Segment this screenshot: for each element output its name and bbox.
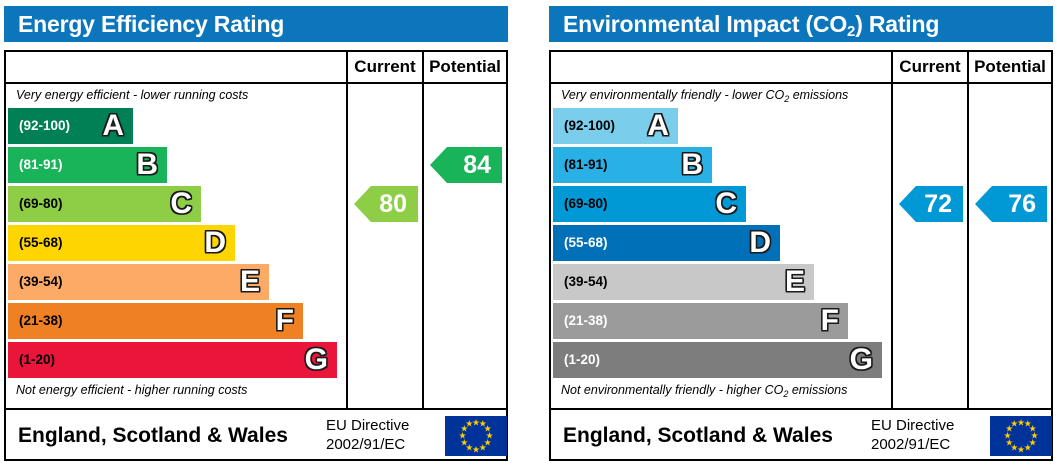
co2-band-range-a: (92-100): [564, 108, 615, 144]
energy-band-range-f: (21-38): [19, 303, 63, 339]
co2-band-range-e: (39-54): [564, 264, 608, 300]
energy-band-range-g: (1-20): [19, 342, 55, 378]
co2-top-note-suffix: emissions: [789, 88, 848, 102]
energy-footer-directive: EU Directive 2002/91/EC: [326, 416, 409, 454]
co2-band-range-d: (55-68): [564, 225, 608, 261]
energy-chart-footer: England, Scotland & Wales EU Directive 2…: [4, 412, 508, 461]
co2-band-range-c: (69-80): [564, 186, 608, 222]
co2-current-column-divider: [891, 52, 893, 408]
co2-title-suffix: ) Rating: [855, 11, 939, 37]
co2-band-letter-f: F: [821, 306, 839, 336]
eu-flag-star: ★: [1010, 420, 1018, 429]
co2-band-letter-e: E: [785, 267, 805, 297]
co2-footer-region: England, Scotland & Wales: [563, 412, 833, 459]
energy-band-letter-f: F: [276, 306, 294, 336]
energy-potential-column-divider: [422, 52, 424, 408]
co2-chart-table: Current Potential Very environmentally f…: [549, 50, 1053, 461]
co2-bottom-note: Not environmentally friendly - higher CO…: [561, 383, 847, 397]
co2-band-letter-d: D: [749, 228, 771, 258]
co2-title-prefix: Environmental Impact (CO: [563, 11, 847, 37]
energy-band-c: (69-80)C: [8, 186, 201, 222]
co2-top-note-subscript: 2: [784, 94, 789, 104]
co2-band-d: (55-68)D: [553, 225, 780, 261]
co2-bottom-note-prefix: Not environmentally friendly - higher CO: [561, 383, 783, 397]
co2-directive-line-1: EU Directive: [871, 416, 954, 435]
co2-band-letter-b: B: [681, 150, 703, 180]
energy-directive-line-1: EU Directive: [326, 416, 409, 435]
energy-current-rating-arrow: 80: [354, 186, 418, 222]
co2-potential-rating-arrow: 76: [975, 186, 1047, 222]
energy-band-letter-a: A: [102, 111, 124, 141]
energy-current-column-header: Current: [348, 52, 422, 82]
co2-bottom-separator: [551, 408, 1051, 410]
co2-band-letter-c: C: [715, 189, 737, 219]
energy-chart-table: Current Potential Very energy efficient …: [4, 50, 508, 461]
environmental-impact-rating-chart: Environmental Impact (CO2) Rating Curren…: [545, 0, 1057, 467]
co2-current-rating-arrow: 72: [899, 186, 963, 222]
co2-directive-line-2: 2002/91/EC: [871, 435, 954, 454]
energy-bottom-separator: [6, 408, 506, 410]
epc-charts-page: Energy Efficiency Rating Current Potenti…: [0, 0, 1057, 467]
energy-band-letter-e: E: [240, 267, 260, 297]
energy-band-g: (1-20)G: [8, 342, 337, 378]
co2-bottom-note-suffix: emissions: [788, 383, 847, 397]
co2-footer-directive: EU Directive 2002/91/EC: [871, 416, 954, 454]
co2-band-letter-g: G: [850, 345, 873, 375]
energy-current-column-divider: [346, 52, 348, 408]
energy-band-range-d: (55-68): [19, 225, 63, 261]
co2-band-letter-a: A: [647, 111, 669, 141]
energy-footer-region: England, Scotland & Wales: [18, 412, 288, 459]
energy-band-letter-d: D: [204, 228, 226, 258]
energy-band-f: (21-38)F: [8, 303, 303, 339]
energy-band-range-e: (39-54): [19, 264, 63, 300]
co2-band-a: (92-100)A: [553, 108, 678, 144]
co2-chart-footer: England, Scotland & Wales EU Directive 2…: [549, 412, 1053, 461]
eu-flag-star: ★: [465, 420, 473, 429]
energy-band-list: (92-100)A(81-91)B(69-80)C(55-68)D(39-54)…: [8, 108, 344, 382]
energy-band-a: (92-100)A: [8, 108, 133, 144]
eu-flag-icon: ★★★★★★★★★★★★: [445, 416, 507, 456]
energy-band-range-a: (92-100): [19, 108, 70, 144]
eu-flag-icon: ★★★★★★★★★★★★: [990, 416, 1052, 456]
energy-directive-line-2: 2002/91/EC: [326, 435, 409, 454]
co2-band-b: (81-91)B: [553, 147, 712, 183]
energy-band-b: (81-91)B: [8, 147, 167, 183]
co2-current-column-header: Current: [893, 52, 967, 82]
energy-band-range-b: (81-91): [19, 147, 63, 183]
co2-potential-column-divider: [967, 52, 969, 408]
co2-band-e: (39-54)E: [553, 264, 814, 300]
energy-efficiency-rating-chart: Energy Efficiency Rating Current Potenti…: [0, 0, 512, 467]
energy-chart-title: Energy Efficiency Rating: [4, 6, 508, 42]
co2-band-range-b: (81-91): [564, 147, 608, 183]
energy-band-range-c: (69-80): [19, 186, 63, 222]
co2-bottom-note-subscript: 2: [783, 389, 788, 399]
co2-chart-title: Environmental Impact (CO2) Rating: [549, 6, 1053, 42]
co2-band-range-g: (1-20): [564, 342, 600, 378]
co2-band-c: (69-80)C: [553, 186, 746, 222]
energy-band-d: (55-68)D: [8, 225, 235, 261]
energy-band-letter-c: C: [170, 189, 192, 219]
co2-band-f: (21-38)F: [553, 303, 848, 339]
energy-band-letter-g: G: [305, 345, 328, 375]
co2-band-range-f: (21-38): [564, 303, 608, 339]
co2-potential-column-header: Potential: [969, 52, 1051, 82]
co2-title-subscript: 2: [847, 23, 855, 40]
energy-potential-rating-arrow: 84: [430, 147, 502, 183]
energy-top-note: Very energy efficient - lower running co…: [16, 88, 248, 102]
co2-band-g: (1-20)G: [553, 342, 882, 378]
energy-band-e: (39-54)E: [8, 264, 269, 300]
energy-band-letter-b: B: [136, 150, 158, 180]
energy-potential-column-header: Potential: [424, 52, 506, 82]
co2-top-note: Very environmentally friendly - lower CO…: [561, 88, 848, 102]
energy-bottom-note: Not energy efficient - higher running co…: [16, 383, 247, 397]
co2-top-note-prefix: Very environmentally friendly - lower CO: [561, 88, 784, 102]
co2-band-list: (92-100)A(81-91)B(69-80)C(55-68)D(39-54)…: [553, 108, 889, 382]
